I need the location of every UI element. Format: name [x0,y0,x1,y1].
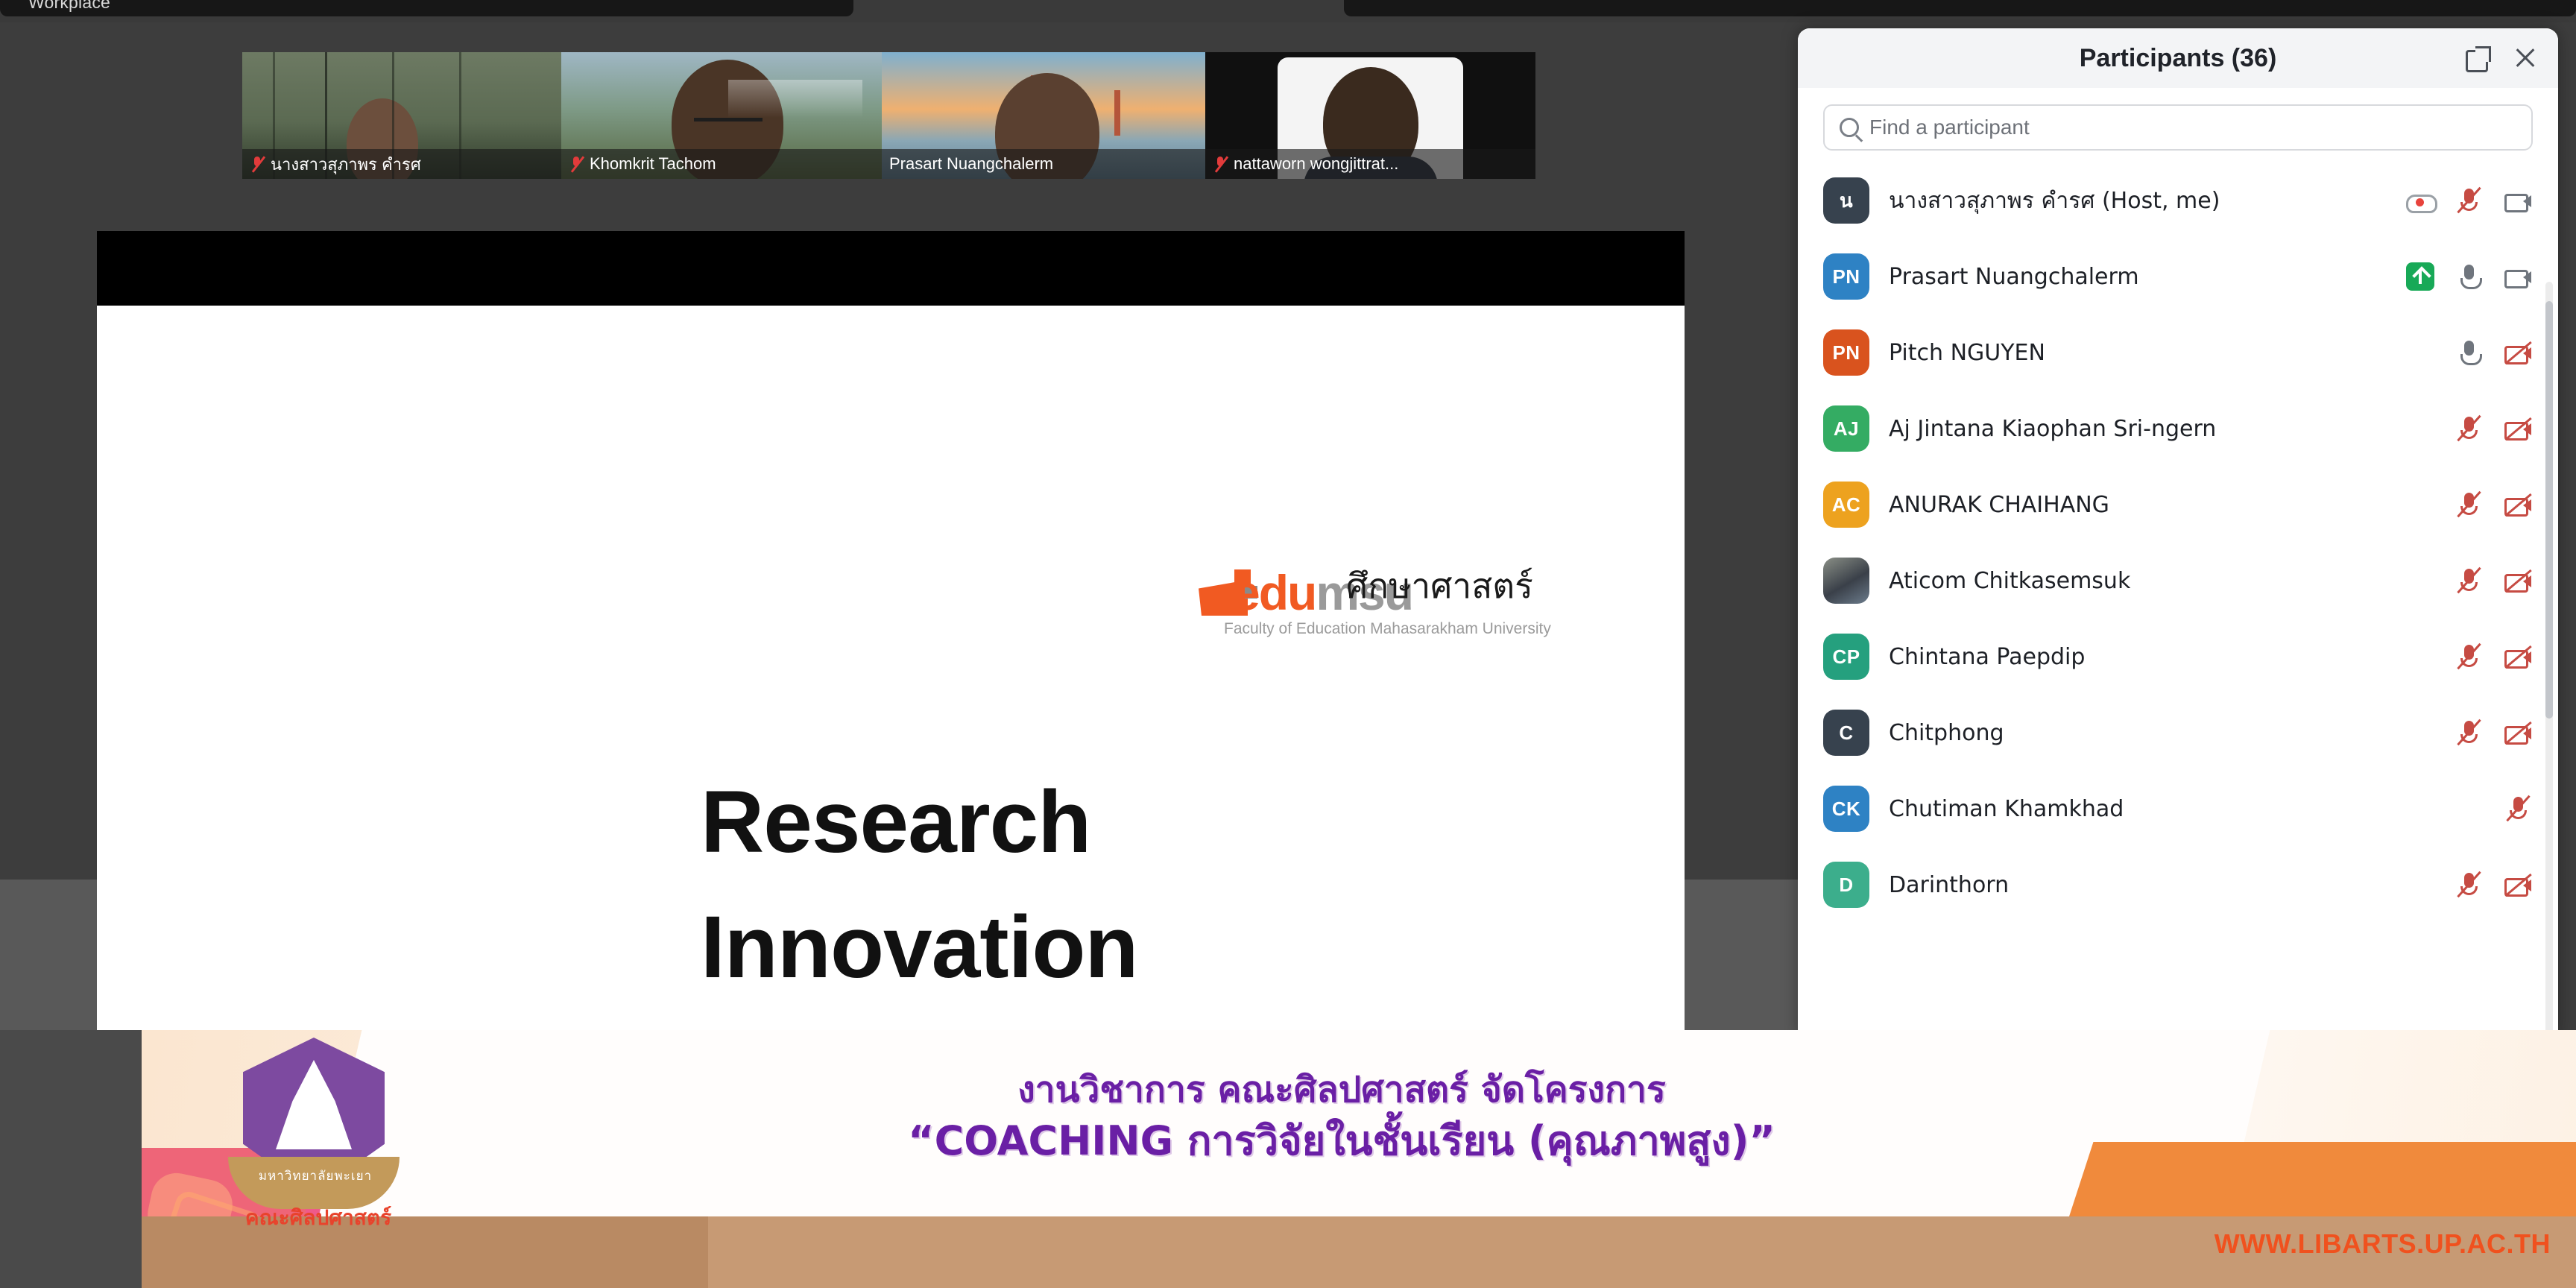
slide-title-line: Research [701,760,1240,885]
edumsu-thai-text: ศึกษาศาสตร์ [1346,559,1533,613]
avatar: CP [1823,634,1869,680]
participant-status-icons [2454,566,2533,596]
mic-off-icon [1213,154,1228,174]
edumsu-subtitle: Faculty of Education Mahasarakham Univer… [1224,620,1551,638]
banner-line-1: งานวิชาการ คณะศิลปศาสตร์ จัดโครงการ [559,1066,2124,1114]
avatar: PN [1823,329,1869,376]
avatar: AJ [1823,405,1869,452]
avatar: D [1823,862,1869,908]
participant-row[interactable]: C Chitphong [1798,695,2558,771]
video-tile[interactable]: นางสาวสุภาพร คำรศ [242,52,561,179]
participant-status-icons [2503,794,2533,824]
participant-status-icons [2454,490,2533,520]
mic-off-icon [250,154,265,174]
slide-title-line: Innovation [701,885,1240,1011]
participant-row[interactable]: D Darinthorn [1798,847,2558,923]
glasses [694,118,763,130]
tile-name: นางสาวสุภาพร คำรศ [271,151,421,177]
tile-name: Khomkrit Tachom [590,154,716,174]
stage-left-margin [0,1030,142,1288]
avatar: AC [1823,482,1869,528]
banner-line-2: “COACHING การวิจัยในชั้นเรียน (คุณภาพสูง… [559,1114,2124,1169]
edumsu-word-orange: edu [1233,565,1316,620]
browser-tab-active[interactable]: Workplace [0,0,853,16]
participants-title: Participants (36) [2080,44,2277,73]
video-filmstrip: นางสาวสุภาพร คำรศ Khomkrit Tachom [242,52,1535,179]
shared-screen[interactable]: edumsu ศึกษาศาสตร์ Faculty of Education … [97,231,1685,1051]
participant-status-icons [2405,186,2533,215]
camera-off-icon[interactable] [2503,414,2533,443]
search-icon [1840,118,1859,137]
avatar: PN [1823,253,1869,300]
banner-text: งานวิชาการ คณะศิลปศาสตร์ จัดโครงการ “COA… [559,1066,2124,1169]
participant-name: Darinthorn [1889,872,2434,898]
camera-off-icon[interactable] [2503,870,2533,900]
faculty-label: คณะศิลปศาสตร์ [225,1202,411,1234]
participant-name: Chitphong [1889,720,2434,746]
slide-topbar [97,231,1685,306]
participant-row[interactable]: PN Prasart Nuangchalerm [1798,239,2558,315]
camera-on-icon[interactable] [2503,262,2533,291]
mic-off-icon[interactable] [2454,566,2484,596]
tile-nameplate: นางสาวสุภาพร คำรศ [242,149,561,179]
avatar: น [1823,177,1869,224]
browser-tab-label: Workplace [28,0,110,13]
avatar: C [1823,710,1869,756]
participants-panel-header: Participants (36) [1798,28,2558,88]
camera-off-icon[interactable] [2503,718,2533,748]
camera-off-icon[interactable] [2503,338,2533,367]
participant-status-icons [2454,414,2533,443]
edumsu-logo: edumsu ศึกษาศาสตร์ Faculty of Education … [1199,558,1527,640]
participants-list[interactable]: น นางสาวสุภาพร คำรศ (Host, me) PN Prasar… [1798,162,2558,1036]
search-input[interactable]: Find a participant [1823,104,2533,151]
camera-off-icon[interactable] [2503,566,2533,596]
cloud-record-icon[interactable] [2405,186,2434,215]
mic-off-icon[interactable] [2454,718,2484,748]
participant-row[interactable]: Aticom Chitkasemsuk [1798,543,2558,619]
participant-row[interactable]: CP Chintana Paepdip [1798,619,2558,695]
video-tile-active[interactable]: Prasart Nuangchalerm [882,52,1205,179]
university-crest: มพ มหาวิทยาลัยพะเยา คณะศิลปศาสตร์ [230,1030,401,1179]
participant-status-icons [2454,870,2533,900]
screen: Workplace นางสาวสุภาพร คำรศ [0,0,2576,1288]
tile-nameplate: Prasart Nuangchalerm [882,149,1205,179]
participant-row[interactable]: PN Pitch NGUYEN [1798,315,2558,391]
banner-watermark: WWW.LIBARTS.UP.AC.TH [2214,1228,2551,1260]
search-placeholder: Find a participant [1869,116,2030,139]
participant-status-icons [2454,338,2533,367]
bridge-tower [1114,90,1120,136]
mic-off-icon[interactable] [2454,642,2484,672]
mic-off-icon[interactable] [2454,186,2484,215]
close-icon[interactable] [2512,45,2539,72]
participant-name: Prasart Nuangchalerm [1889,264,2387,290]
participant-name: ANURAK CHAIHANG [1889,492,2434,518]
participant-name: Pitch NGUYEN [1889,340,2434,366]
participants-search: Find a participant [1798,88,2558,162]
participant-status-icons [2454,718,2533,748]
participant-row[interactable]: AC ANURAK CHAIHANG [1798,467,2558,543]
participant-name: Chutiman Khamkhad [1889,796,2484,822]
participant-row[interactable]: น นางสาวสุภาพร คำรศ (Host, me) [1798,162,2558,239]
mic-off-icon[interactable] [2454,870,2484,900]
mic-off-icon[interactable] [2454,414,2484,443]
browser-tab-secondary[interactable] [1344,0,2576,16]
mic-off-icon [569,154,584,174]
tile-nameplate: Khomkrit Tachom [561,149,882,179]
participants-panel: Participants (36) Find a participant น น… [1798,28,2558,1036]
event-banner: มพ มหาวิทยาลัยพะเยา คณะศิลปศาสตร์ งานวิช… [142,1030,2576,1288]
video-tile[interactable]: nattaworn wongjittrat... [1205,52,1535,179]
tile-name: Prasart Nuangchalerm [889,154,1053,174]
popout-icon[interactable] [2464,45,2491,72]
participant-status-icons [2406,262,2533,291]
raise-hand-icon[interactable] [2406,262,2434,291]
camera-off-icon[interactable] [2503,642,2533,672]
participant-row[interactable]: CK Chutiman Khamkhad [1798,771,2558,847]
participant-row[interactable]: AJ Aj Jintana Kiaophan Sri-ngern [1798,391,2558,467]
participant-name: Aticom Chitkasemsuk [1889,568,2434,594]
mic-on-icon[interactable] [2454,338,2484,367]
browser-chrome: Workplace [0,0,2576,22]
scrollbar-thumb[interactable] [2545,301,2553,719]
camera-on-icon[interactable] [2503,186,2533,215]
mic-off-icon[interactable] [2503,794,2533,824]
participant-name: Aj Jintana Kiaophan Sri-ngern [1889,416,2434,442]
video-tile[interactable]: Khomkrit Tachom [561,52,882,179]
mic-on-icon[interactable] [2454,262,2484,291]
participant-status-icons [2454,642,2533,672]
mic-off-icon[interactable] [2454,490,2484,520]
avatar: CK [1823,786,1869,832]
crest-ribbon-text: มหาวิทยาลัยพะเยา [230,1166,401,1186]
tile-nameplate: nattaworn wongjittrat... [1205,149,1535,179]
camera-off-icon[interactable] [2503,490,2533,520]
participant-name: นางสาวสุภาพร คำรศ (Host, me) [1889,183,2385,218]
participants-panel-actions [2464,28,2539,88]
participant-name: Chintana Paepdip [1889,644,2434,670]
tile-name: nattaworn wongjittrat... [1234,154,1398,174]
avatar [1823,558,1869,604]
